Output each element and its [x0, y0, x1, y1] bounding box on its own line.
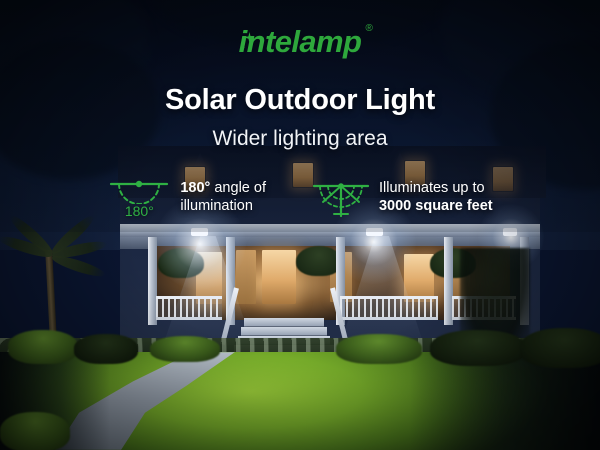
feature-beam-angle-value: 180° [180, 180, 210, 196]
feature-beam-angle-text: 180° angle of illumination [180, 178, 266, 216]
text-overlay: intelamp ® Solar Outdoor Light Wider lig… [0, 0, 600, 450]
feature-beam-angle-line2: illumination [180, 198, 253, 214]
feature-beam-angle: 180° 180° angle of illumination [107, 178, 266, 219]
registered-trademark-icon: ® [366, 24, 373, 34]
brand-logo-wordmark: intelamp ® [239, 26, 362, 57]
feature-beam-angle-rest: angle of [210, 180, 266, 196]
beam-angle-180-icon: 180° [107, 178, 171, 219]
brand-logo: intelamp ® [0, 26, 600, 57]
sparkle-small-icon [240, 24, 245, 29]
feature-list: 180° 180° angle of illumination [0, 178, 600, 219]
feature-coverage-value: 3000 square feet [379, 198, 493, 214]
page-title: Solar Outdoor Light [0, 84, 600, 117]
feature-coverage-area-text: Illuminates up to 3000 square feet [379, 178, 493, 216]
sparkle-star-icon [244, 17, 255, 28]
illumination-spread-icon [312, 178, 370, 218]
page-subtitle: Wider lighting area [0, 127, 600, 151]
product-banner: intelamp ® Solar Outdoor Light Wider lig… [0, 0, 600, 450]
brand-logo-text: intelamp [239, 24, 362, 59]
feature-coverage-area: Illuminates up to 3000 square feet [312, 178, 493, 218]
feature-coverage-line1: Illuminates up to [379, 180, 485, 196]
beam-angle-caption: 180° [107, 203, 171, 219]
